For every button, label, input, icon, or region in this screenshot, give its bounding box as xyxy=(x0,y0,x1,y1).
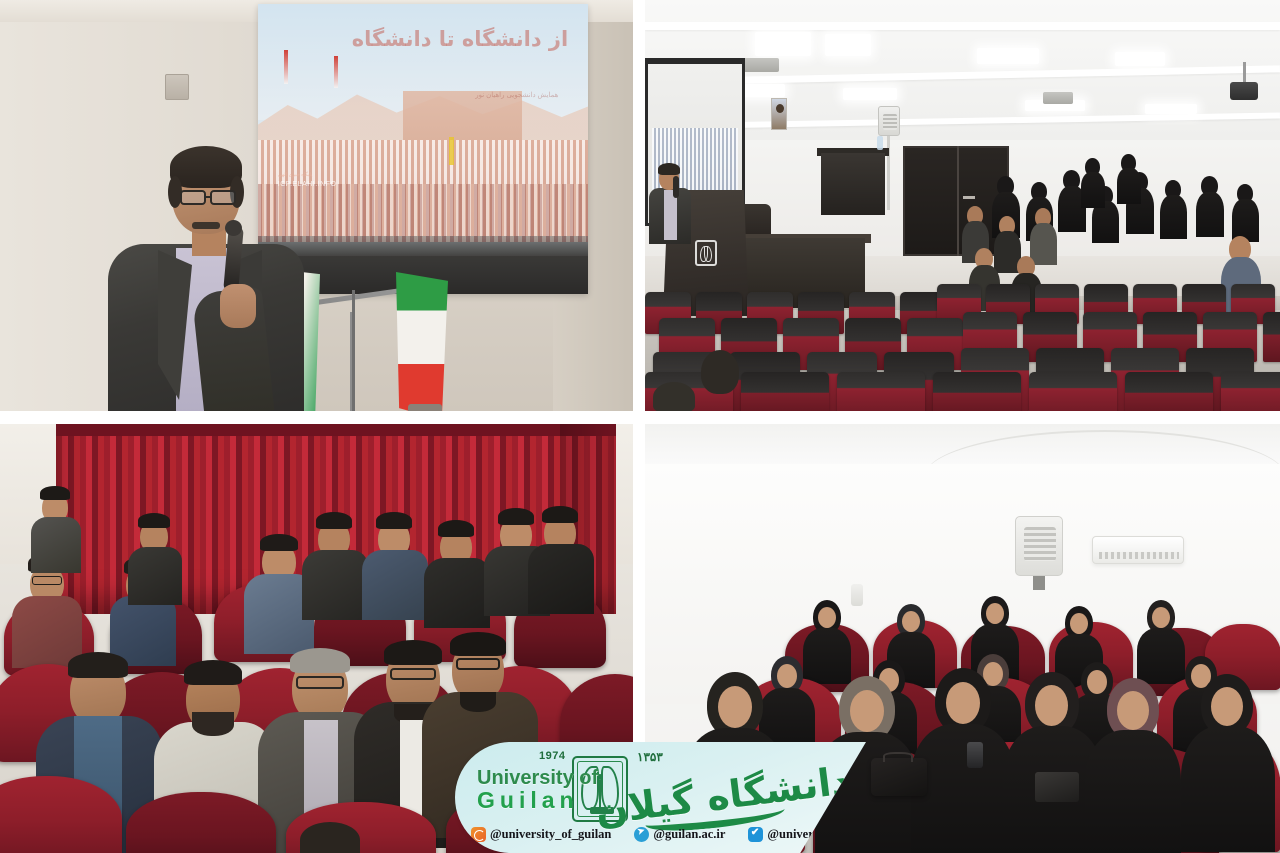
founding-year-gregorian: 1974 xyxy=(539,750,565,762)
slide-watermark: ICP.ELAHI.INFO xyxy=(278,181,337,188)
ceiling-vent-1 xyxy=(743,58,779,72)
door-split-line xyxy=(957,146,959,256)
scene-lecture-hall xyxy=(645,0,1280,411)
student-hair xyxy=(260,534,298,551)
student-hair xyxy=(542,506,578,523)
speaker-bracket xyxy=(1033,576,1045,590)
slide-flag-1 xyxy=(284,50,288,84)
wall-sensor xyxy=(851,584,863,606)
university-logo-badge: 1974 ۱۳۵۳ University of Guilan دانشگاه گ… xyxy=(455,742,866,853)
wall-portrait xyxy=(771,98,787,130)
speaker-moustache xyxy=(192,222,220,229)
university-name-line1: University of xyxy=(477,768,605,789)
social-handle-instagram[interactable]: @university_of_guilan xyxy=(471,827,611,842)
front-row-hair xyxy=(68,652,128,678)
front-row-glasses xyxy=(390,668,436,680)
social-handle-telegram[interactable]: @guilan.ac.ir xyxy=(634,827,725,842)
ceiling-light-2 xyxy=(825,34,871,56)
hall-speaker-microphone xyxy=(673,176,679,198)
front-row-hair xyxy=(384,640,442,665)
ceiling-beam-1 xyxy=(645,22,1280,30)
slide-watermark-fa: پایگاه خبری الهی xyxy=(278,172,313,178)
flag-base xyxy=(408,404,442,411)
university-name-english: University of Guilan xyxy=(477,768,605,813)
front-row-glasses xyxy=(296,676,344,689)
mobile-phone xyxy=(967,742,983,768)
speaker-eyeglass-left xyxy=(180,190,206,205)
projection-screen: از دانشگاه تا دانشگاه همایش دانشجویی راه… xyxy=(258,4,588,294)
telegram-icon xyxy=(634,827,649,842)
scene-speaker-podium: از دانشگاه تا دانشگاه همایش دانشجویی راه… xyxy=(0,0,633,411)
student-hair xyxy=(40,486,70,500)
photo-collage: از دانشگاه تا دانشگاه همایش دانشجویی راه… xyxy=(0,0,1280,853)
seat-row-front xyxy=(645,372,1280,411)
ceiling-light-1 xyxy=(755,32,811,56)
ceiling-light-6 xyxy=(843,88,897,100)
student-hair xyxy=(376,512,412,529)
door-handle xyxy=(963,196,975,199)
ceiling-light-4 xyxy=(1115,52,1165,66)
telegram-handle-text: @guilan.ac.ir xyxy=(653,827,725,842)
speaker-hand xyxy=(220,284,256,328)
bale-icon xyxy=(748,827,763,842)
front-row-beard xyxy=(192,712,234,736)
student-hair xyxy=(138,513,170,528)
front-row-beard xyxy=(460,692,496,712)
photo-panel-speaker: از دانشگاه تا دانشگاه همایش دانشجویی راه… xyxy=(0,0,633,411)
ceiling-vent-2 xyxy=(1043,92,1073,104)
instagram-icon xyxy=(471,827,486,842)
notebook xyxy=(1035,772,1079,802)
ceiling-light-3 xyxy=(977,48,1039,64)
wall-vent xyxy=(165,74,189,100)
slide-subtitle: همایش دانشجویی راهیان نور xyxy=(475,91,558,99)
projector-mount-rod xyxy=(1243,62,1246,84)
slide-title: از دانشگاه تا دانشگاه xyxy=(352,27,568,51)
slide-flag-3 xyxy=(449,137,454,165)
front-row-hair xyxy=(184,660,242,685)
handbag xyxy=(871,758,927,796)
flag-pole xyxy=(352,290,355,411)
hall-speaker-hair xyxy=(658,163,680,175)
air-conditioner-unit xyxy=(1092,536,1184,564)
front-row-glasses xyxy=(456,658,500,670)
student-hair xyxy=(438,520,474,537)
water-bottle xyxy=(877,136,883,150)
founding-year-solar-hijri: ۱۳۵۳ xyxy=(637,750,663,764)
slide-crowd-foreground xyxy=(258,184,588,242)
speaker-eyeglass-right xyxy=(210,190,236,205)
instagram-handle-text: @university_of_guilan xyxy=(490,827,611,842)
curtain-rail xyxy=(56,424,616,436)
student-hair xyxy=(498,508,534,525)
ceiling-light-8 xyxy=(1145,104,1197,114)
slide-flag-2 xyxy=(334,56,338,88)
wall-speaker-unit xyxy=(1015,516,1063,576)
wall-speaker-unit xyxy=(878,106,900,136)
ceiling-projector xyxy=(1230,82,1258,100)
front-row-hair xyxy=(450,632,506,656)
social-handles: @university_of_guilan @guilan.ac.ir @uni… xyxy=(471,827,866,842)
equipment-cabinet xyxy=(821,153,885,215)
handbag-strap xyxy=(883,752,913,762)
podium-university-logo xyxy=(695,240,717,266)
speaker-eyeglass-bridge xyxy=(206,196,212,198)
student-glasses xyxy=(32,576,62,585)
photo-panel-hall-wide xyxy=(645,0,1280,411)
student-hair xyxy=(316,512,352,529)
iran-flag xyxy=(396,272,448,411)
university-name-line2: Guilan xyxy=(477,789,605,813)
front-row-hair xyxy=(290,648,350,673)
microphone-head xyxy=(225,220,242,236)
